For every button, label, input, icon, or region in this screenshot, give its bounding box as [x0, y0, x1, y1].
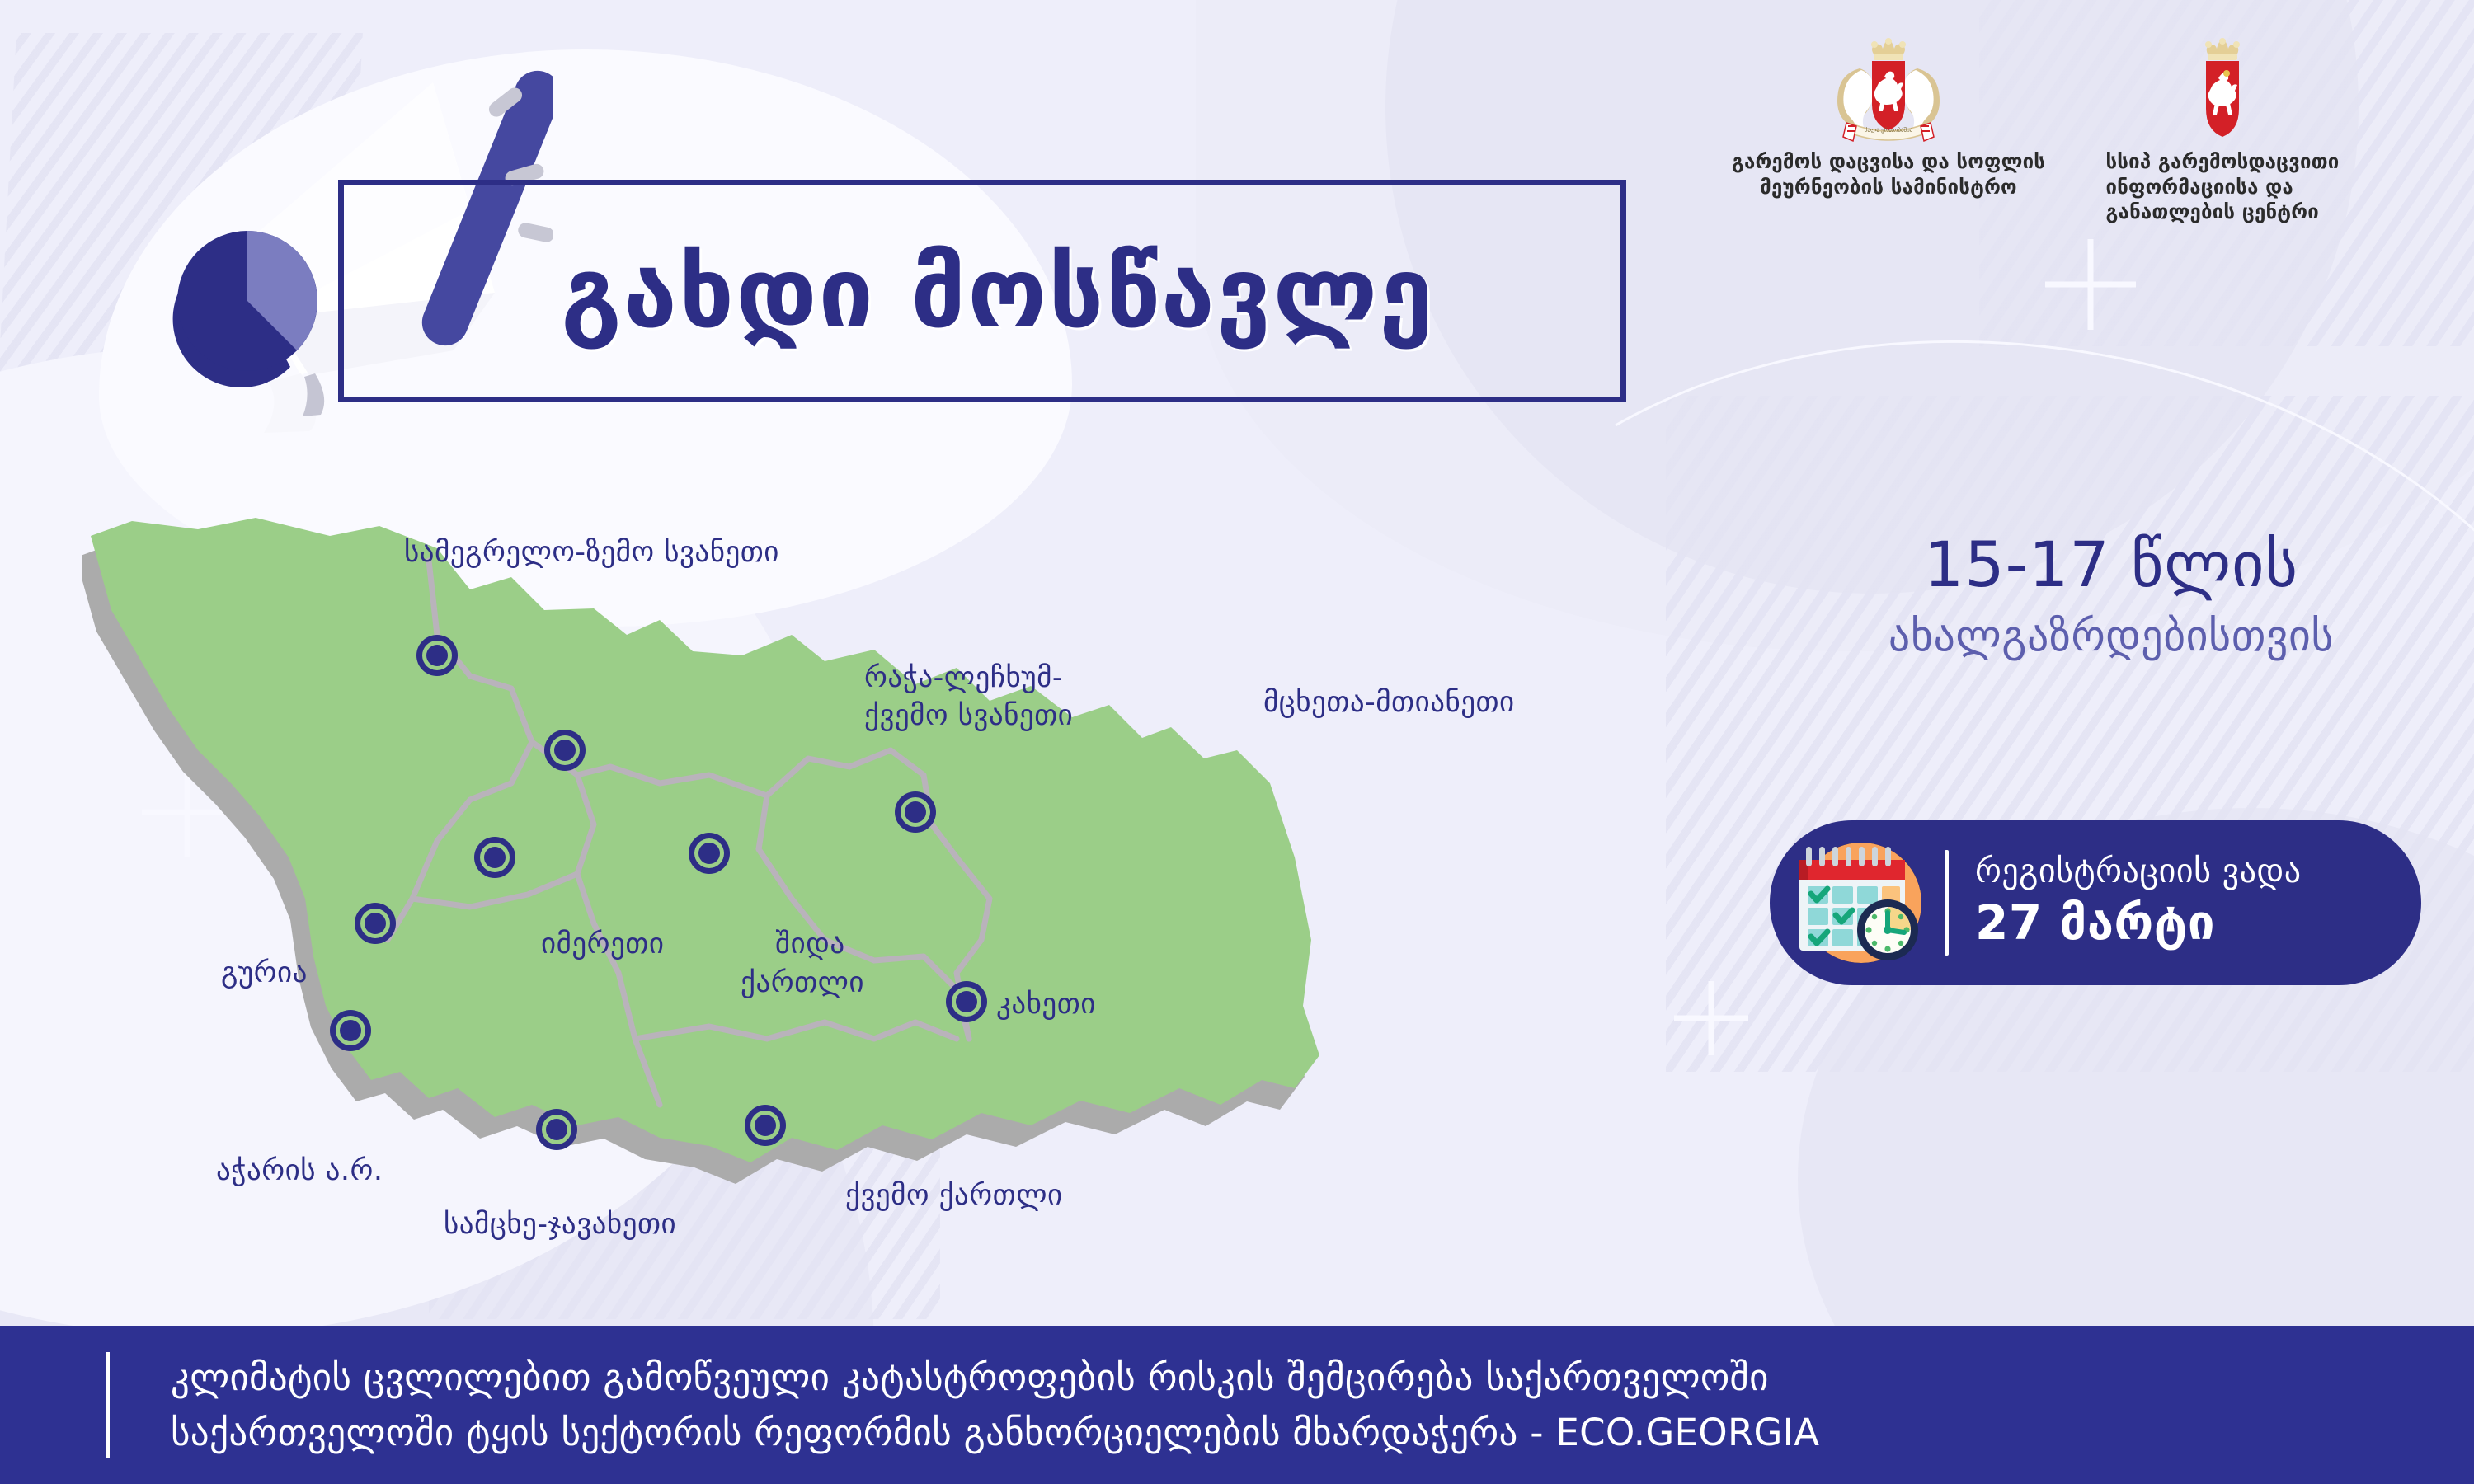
pill-divider — [1945, 850, 1949, 956]
ministry-caption-line1: გარემოს დაცვისა და სოფლის — [1732, 149, 2045, 175]
deadline-label: რეგისტრაციის ვადა — [1975, 853, 2302, 890]
center-caption-line2: ინფორმაციისა და — [2105, 175, 2339, 200]
center-logo: სსიპ გარემოსდაცვითი ინფორმაციისა და განა… — [2086, 37, 2359, 227]
center-emblem-icon — [2197, 37, 2248, 143]
region-label-kvemo-kartli: ქვემო ქართლი — [845, 1179, 1063, 1213]
region-label-samegrelo: სამეგრელო-ზემო სვანეთი — [404, 536, 779, 570]
logo-group: ძალა ერთობაშია გარემოს დაცვისა და სოფლის… — [1724, 37, 2408, 227]
bottom-banner: კლიმატის ცვლილებით გამოწვეული კატასტროფე… — [0, 1326, 2474, 1484]
center-caption-line3: განათლების ცენტრი — [2105, 200, 2339, 225]
age-audience-text: ახალგაზრდებისთვის — [1757, 612, 2466, 661]
bg-plus-2 — [2045, 239, 2136, 330]
ministry-caption-line2: მეურნეობის სამინისტრო — [1732, 175, 2045, 200]
banner-text-group: კლიმატის ცვლილებით გამოწვეული კატასტროფე… — [171, 1350, 1819, 1461]
center-caption-line1: სსიპ გარემოსდაცვითი — [2105, 149, 2339, 175]
calendar-clock-icon — [1791, 833, 1931, 973]
ministry-emblem-icon: ძალა ერთობაშია — [1827, 37, 1950, 143]
page-title: გახდი მოსწავლე — [379, 198, 1616, 387]
registration-deadline-badge: რეგისტრაციის ვადა 27 მარტი — [1770, 820, 2421, 985]
svg-text:ძალა ერთობაშია: ძალა ერთობაშია — [1865, 126, 1913, 134]
center-logo-caption: სსიპ გარემოსდაცვითი ინფორმაციისა და განა… — [2105, 149, 2339, 225]
ministry-logo: ძალა ერთობაშია გარემოს დაცვისა და სოფლის… — [1724, 37, 2053, 227]
deadline-date: 27 მარტი — [1975, 895, 2302, 952]
banner-line-1: კლიმატის ცვლილებით გამოწვეული კატასტროფე… — [171, 1350, 1819, 1406]
banner-line-2: საქართველოში ტყის სექტორის რეფორმის განხ… — [171, 1405, 1819, 1461]
region-label-shida-line1: შიდა — [775, 927, 845, 961]
region-label-kakheti: კახეთი — [996, 988, 1096, 1021]
age-range-text: 15-17 წლის — [1798, 528, 2425, 601]
region-label-racha-line2: ქვემო სვანეთი — [864, 699, 1073, 733]
region-label-shida-line2: ქართლი — [741, 966, 864, 1000]
region-label-guria: გურია — [221, 956, 308, 990]
ministry-logo-caption: გარემოს დაცვისა და სოფლის მეურნეობის სამ… — [1732, 149, 2045, 200]
region-label-adjara: აჭარის ა.რ. — [216, 1154, 383, 1188]
region-label-mtskheta: მცხეთა-მთიანეთი — [1263, 686, 1515, 720]
infographic-poster: გახდი მოსწავლე ძალა — [0, 0, 2474, 1484]
georgia-map: სამეგრელო-ზემო სვანეთი რაჭა-ლეჩხუმ- ქვემ… — [82, 511, 1740, 1278]
region-label-imereti: იმერეთი — [541, 927, 664, 961]
region-label-samtskhe: სამცხე-ჯავახეთი — [444, 1208, 676, 1242]
banner-divider — [106, 1352, 110, 1458]
region-label-racha-line1: რაჭა-ლეჩხუმ- — [864, 661, 1063, 695]
deadline-text-group: რეგისტრაციის ვადა 27 მარტი — [1975, 853, 2302, 952]
